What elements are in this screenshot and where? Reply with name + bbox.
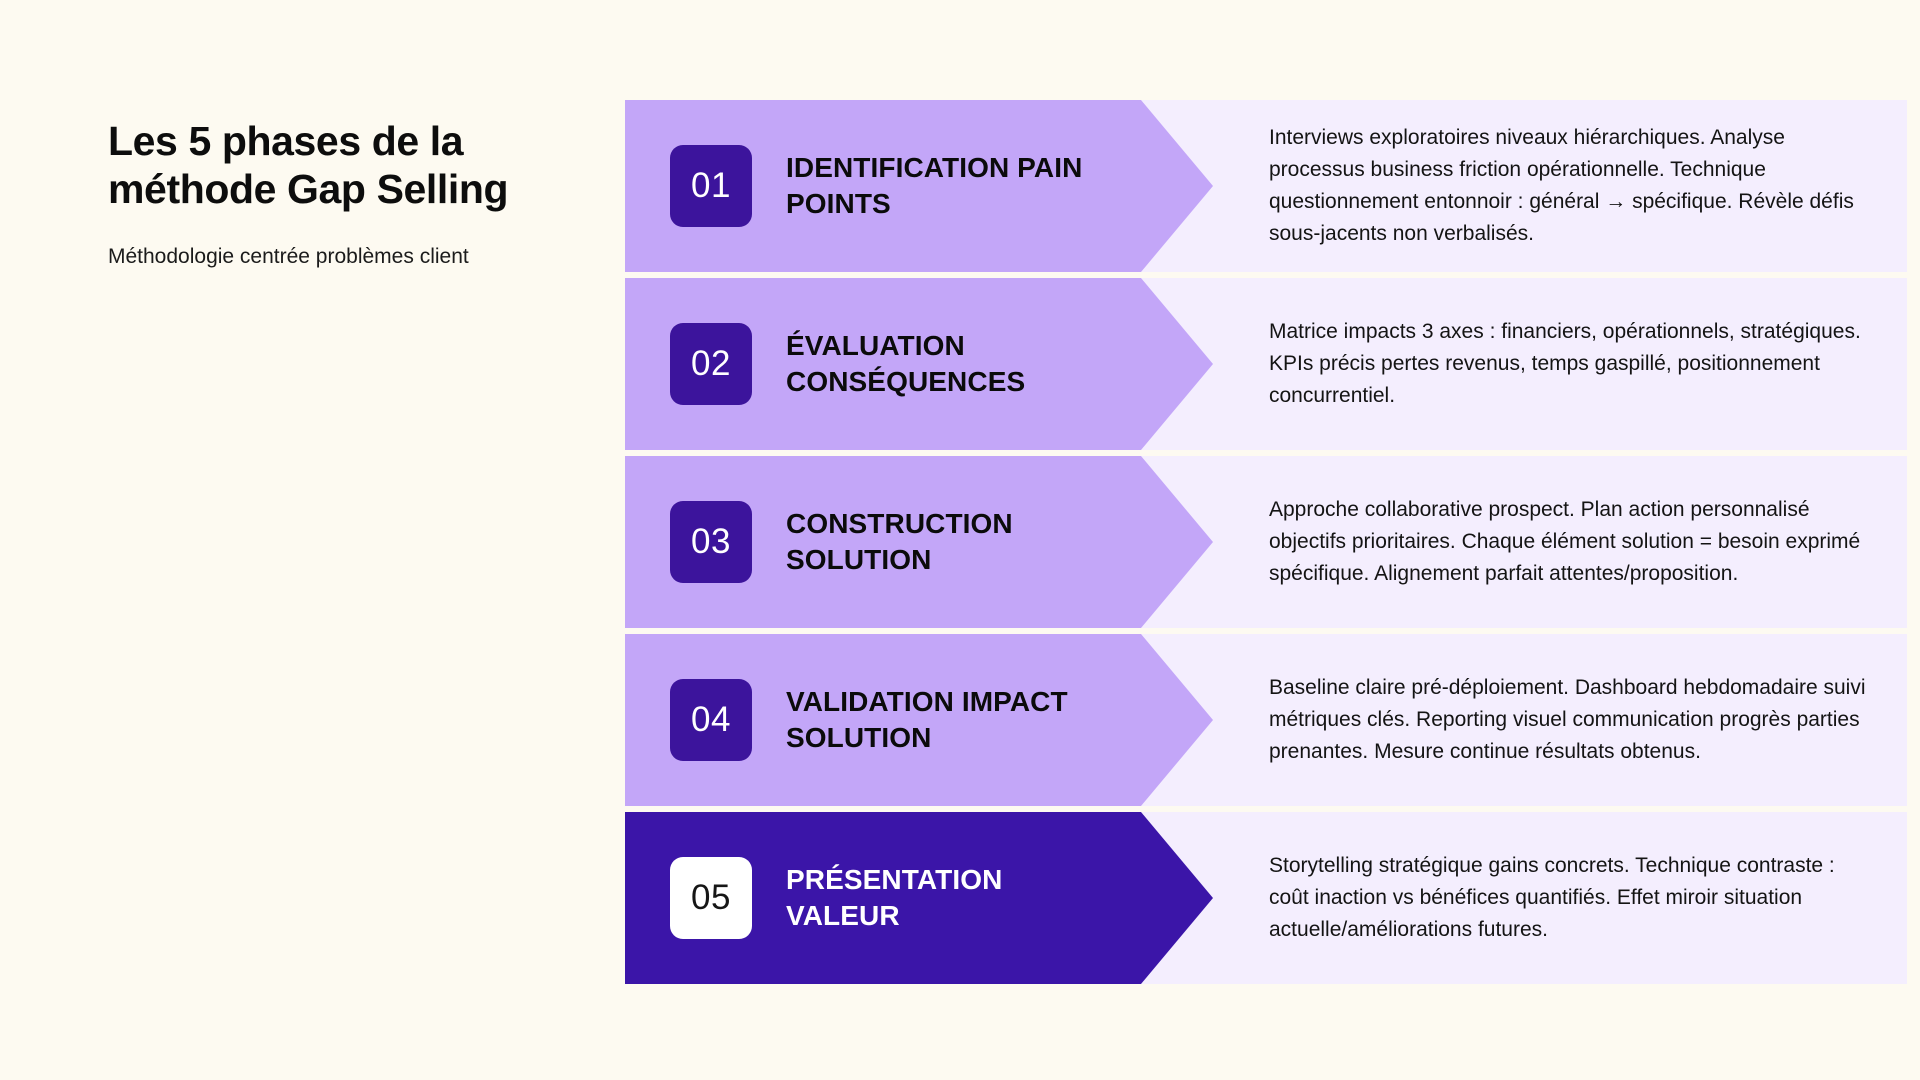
infographic-page: Les 5 phases de la méthode Gap Selling M… [0, 0, 1920, 1080]
phase-description: Storytelling stratégique gains concrets.… [1269, 850, 1877, 946]
phase-row-2: 02 ÉVALUATION CONSÉQUENCES Matrice impac… [625, 278, 1907, 450]
phase-description: Interviews exploratoires niveaux hiérarc… [1269, 122, 1877, 250]
phase-title: ÉVALUATION CONSÉQUENCES [786, 328, 1116, 400]
phase-title: IDENTIFICATION PAIN POINTS [786, 150, 1116, 222]
phase-description-panel-2: Matrice impacts 3 axes : financiers, opé… [1141, 278, 1907, 450]
phase-description-panel-3: Approche collaborative prospect. Plan ac… [1141, 456, 1907, 628]
page-title: Les 5 phases de la méthode Gap Selling [108, 118, 603, 214]
phase-description-panel-4: Baseline claire pré-déploiement. Dashboa… [1141, 634, 1907, 806]
phase-number-badge: 04 [670, 679, 752, 761]
phase-description: Baseline claire pré-déploiement. Dashboa… [1269, 672, 1877, 768]
phase-row-4: 04 VALIDATION IMPACT SOLUTION Baseline c… [625, 634, 1907, 806]
phase-row-3: 03 CONSTRUCTION SOLUTION Approche collab… [625, 456, 1907, 628]
phases-flow: 01 IDENTIFICATION PAIN POINTS Interviews… [625, 100, 1907, 984]
phase-title: PRÉSENTATION VALEUR [786, 862, 1116, 934]
phase-band-2: 02 ÉVALUATION CONSÉQUENCES [625, 278, 1141, 450]
phase-description-panel-5: Storytelling stratégique gains concrets.… [1141, 812, 1907, 984]
phase-band-4: 04 VALIDATION IMPACT SOLUTION [625, 634, 1141, 806]
phase-description: Approche collaborative prospect. Plan ac… [1269, 494, 1877, 590]
phase-description-panel-1: Interviews exploratoires niveaux hiérarc… [1141, 100, 1907, 272]
phase-band-3: 03 CONSTRUCTION SOLUTION [625, 456, 1141, 628]
phase-band-5: 05 PRÉSENTATION VALEUR [625, 812, 1141, 984]
phase-title: VALIDATION IMPACT SOLUTION [786, 684, 1116, 756]
phase-number-badge: 01 [670, 145, 752, 227]
phase-number-badge: 03 [670, 501, 752, 583]
phase-number-badge: 05 [670, 857, 752, 939]
phase-band-1: 01 IDENTIFICATION PAIN POINTS [625, 100, 1141, 272]
phase-title: CONSTRUCTION SOLUTION [786, 506, 1116, 578]
phase-row-1: 01 IDENTIFICATION PAIN POINTS Interviews… [625, 100, 1907, 272]
header-block: Les 5 phases de la méthode Gap Selling M… [108, 118, 608, 272]
phase-number-badge: 02 [670, 323, 752, 405]
page-subtitle: Méthodologie centrée problèmes client [108, 242, 578, 272]
phase-description: Matrice impacts 3 axes : financiers, opé… [1269, 316, 1877, 412]
phase-row-5: 05 PRÉSENTATION VALEUR Storytelling stra… [625, 812, 1907, 984]
